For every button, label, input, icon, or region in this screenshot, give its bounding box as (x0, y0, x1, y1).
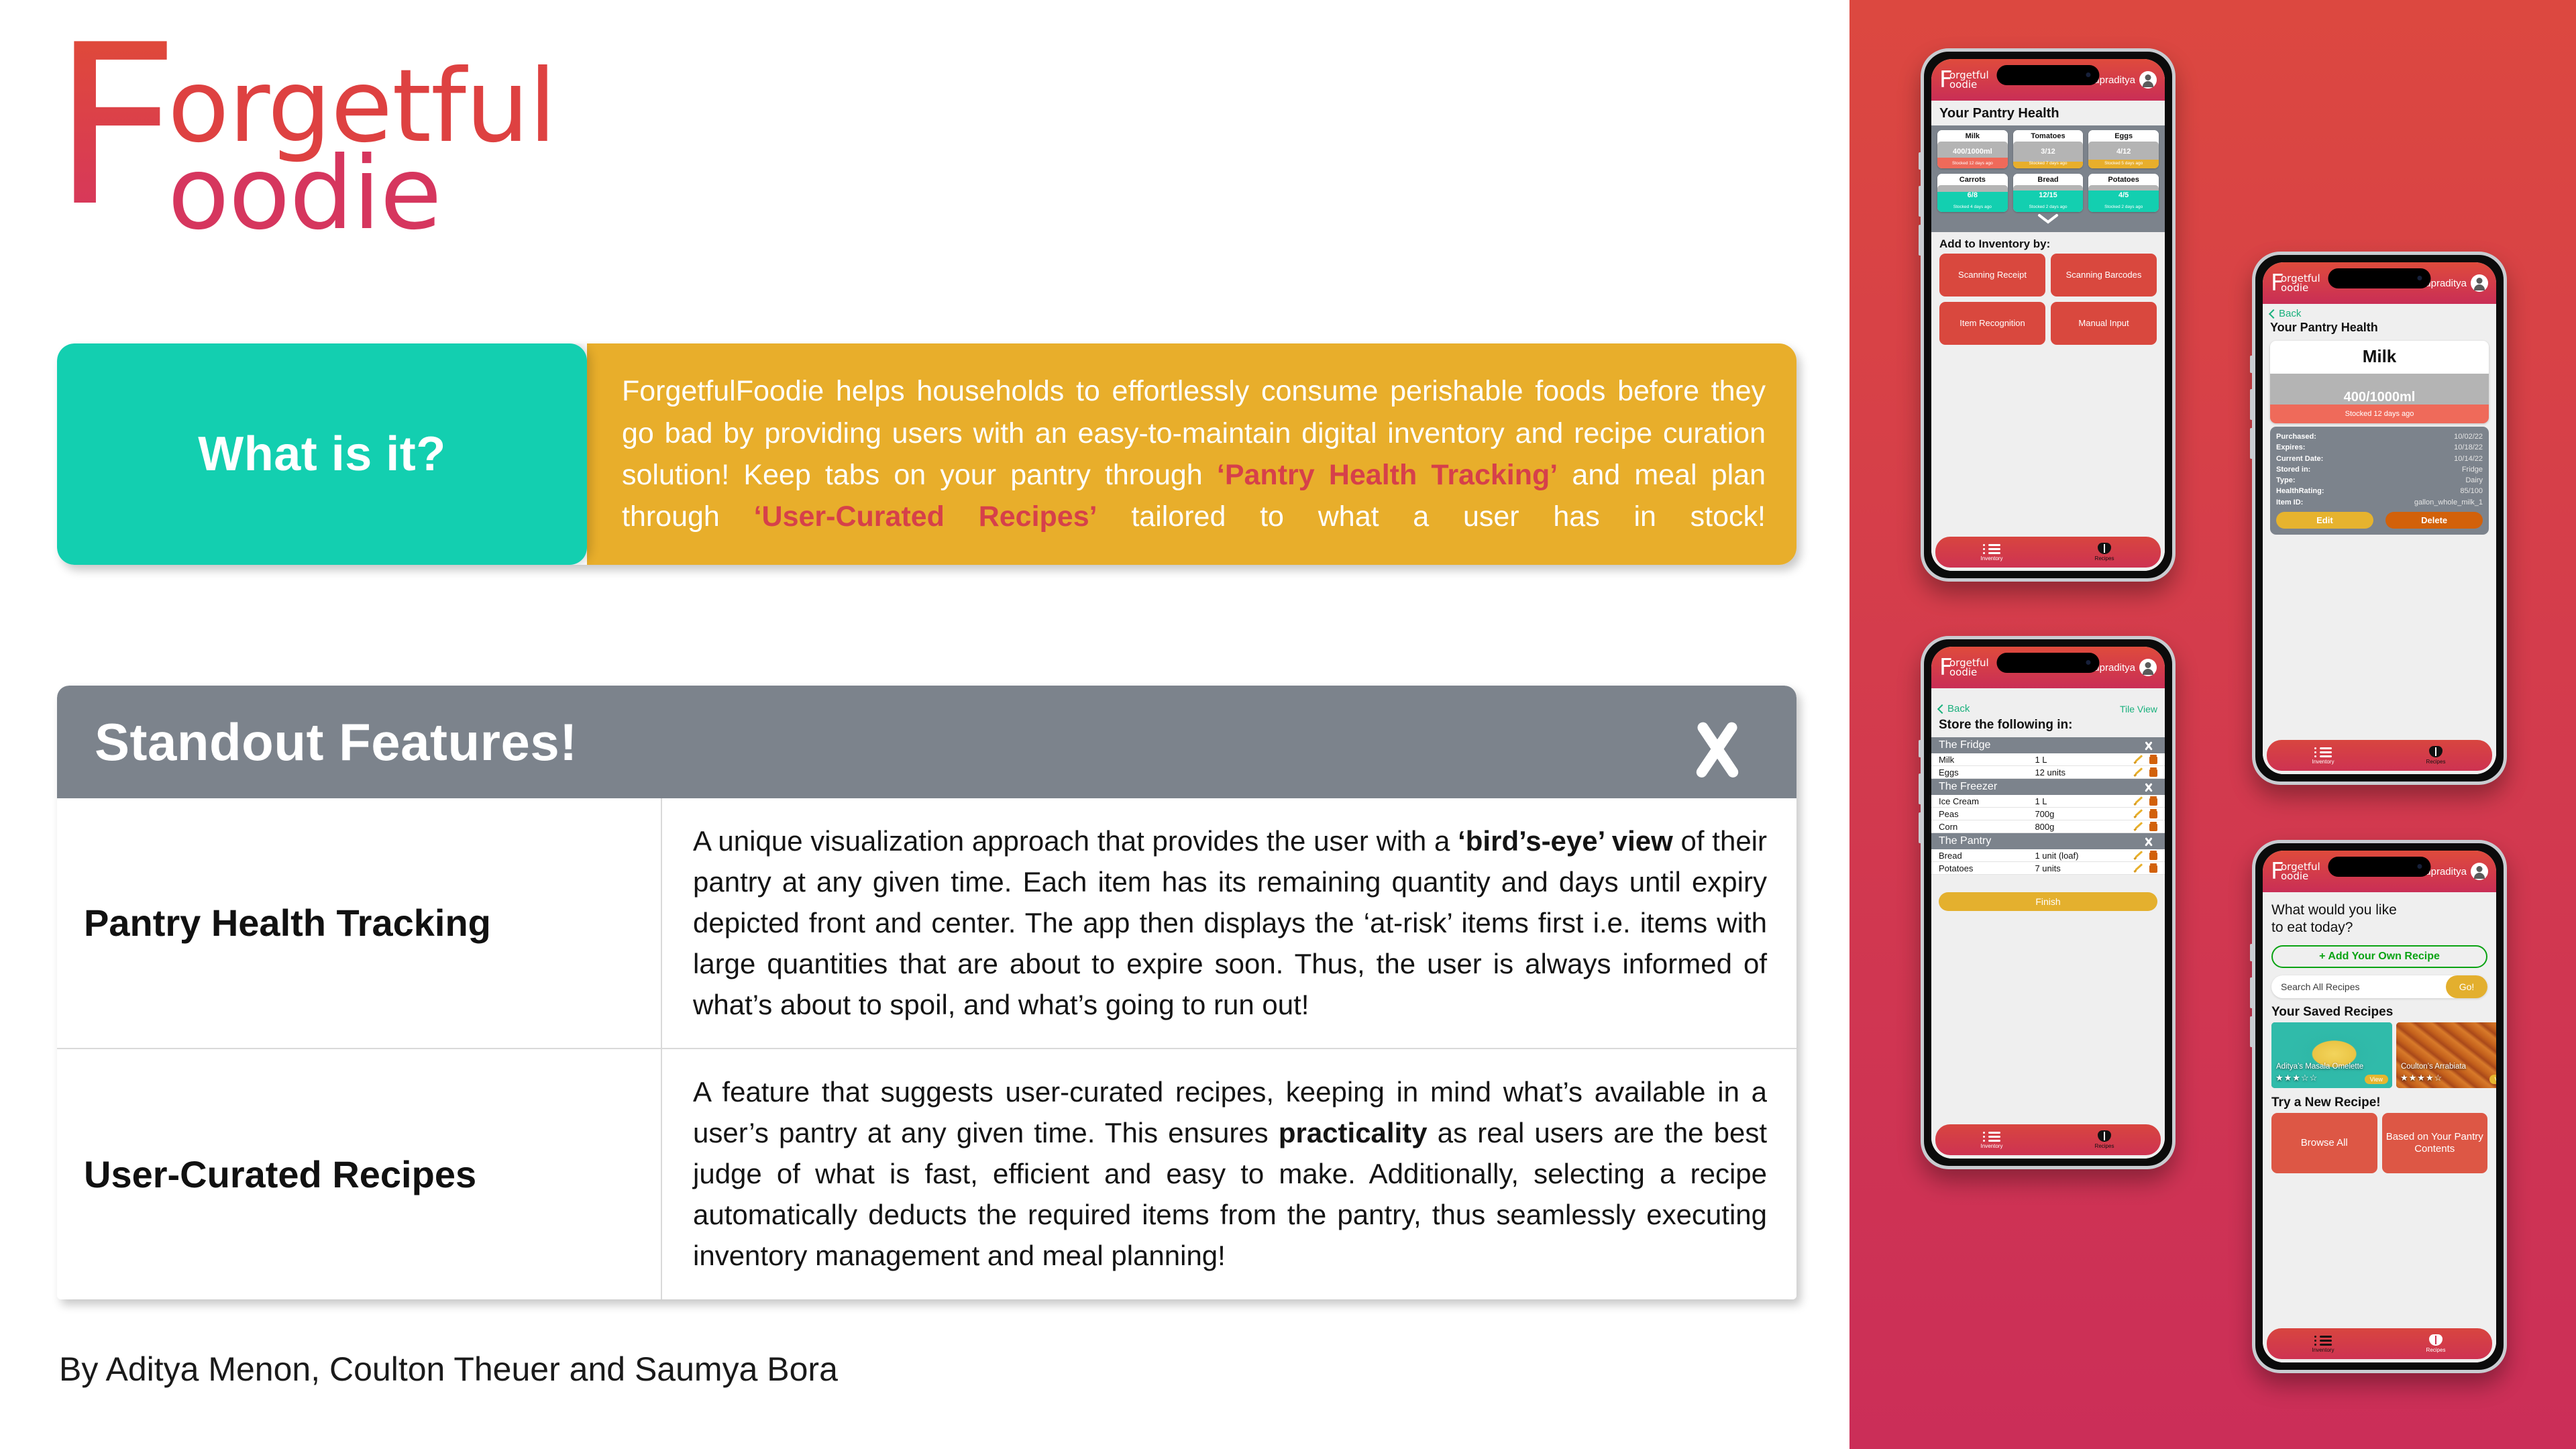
phone2-screen: F orgetful oodie Supraditya Back (2263, 262, 2496, 774)
storage-item-row: Peas 700g (1931, 808, 2165, 820)
tile-meter: 6/8 Stocked 4 days ago (1937, 185, 2008, 212)
meta-key: Purchased: (2276, 431, 2316, 442)
group-name: The Pantry (1939, 835, 1991, 847)
bottom-nav: Inventory Recipes (1935, 1124, 2161, 1155)
phone3-body: Back Tile View Store the following in: T… (1931, 688, 2165, 1159)
edit-icon[interactable] (2134, 810, 2143, 818)
logo-letter-f: F (1939, 68, 1953, 91)
item-recognition-button[interactable]: Item Recognition (1939, 302, 2045, 345)
pantry-tile[interactable]: Potatoes 4/5 Stocked 2 days ago (2088, 174, 2159, 212)
recipe-rating: ★★★☆☆ (2275, 1073, 2318, 1083)
back-button[interactable]: Back (1939, 703, 1970, 714)
feature-title-cell: Pantry Health Tracking (57, 798, 662, 1048)
app-logo: F orgetful oodie (52, 25, 656, 247)
chevron-up-icon[interactable] (2140, 837, 2157, 846)
poster-canvas: F orgetful oodie What is it? ForgetfulFo… (0, 0, 2576, 1449)
phone-mockup-recipes: F orgetful oodie Supraditya What would y… (2252, 840, 2507, 1373)
storage-item-row: Ice Cream 1 L (1931, 795, 2165, 808)
add-method-grid: Scanning Receipt Scanning Barcodes Item … (1931, 254, 2165, 345)
standout-features-title: Standout Features! (95, 712, 578, 773)
edit-button[interactable]: Edit (2276, 512, 2373, 529)
app-logo-small: F orgetful oodie (1939, 658, 1989, 678)
tile-stocked: Stocked 2 days ago (2088, 205, 2159, 209)
item-name: Peas (1939, 809, 2035, 819)
list-icon (2314, 747, 2332, 757)
tile-stocked: Stocked 5 days ago (2088, 161, 2159, 166)
store-title: Store the following in: (1931, 715, 2165, 737)
tile-quantity: 4/5 (2088, 191, 2159, 199)
chevron-left-icon (1937, 704, 1947, 713)
nav-inventory-label: Inventory (2312, 1347, 2334, 1353)
delete-button[interactable]: Delete (2385, 512, 2483, 529)
phone3-screen: F orgetful oodie Supraditya Back (1931, 647, 2165, 1159)
tile-meter: 12/15 Stocked 2 days ago (2013, 185, 2084, 212)
bottom-nav: Inventory Recipes (1935, 537, 2161, 568)
what-is-it-label-text: What is it? (198, 427, 445, 482)
feature-row: Pantry Health Tracking A unique visualiz… (57, 798, 1796, 1049)
tile-stocked: Stocked 7 days ago (2013, 161, 2084, 166)
phone4-body: What would you like to eat today? + Add … (2263, 892, 2496, 1362)
trash-icon[interactable] (2149, 809, 2157, 818)
meta-row: Stored in:Fridge (2276, 464, 2483, 475)
back-label: Back (1947, 703, 1970, 714)
finish-button[interactable]: Finish (1939, 892, 2157, 911)
logo-line-two: oodie (168, 144, 441, 244)
nav-recipes[interactable]: Recipes (2379, 747, 2492, 765)
recipe-name: Aditya’s Masala Omelette (2276, 1063, 2387, 1071)
recipe-view-button[interactable]: View (2365, 1075, 2388, 1084)
dynamic-island (1996, 653, 2099, 673)
meta-value: Fridge (2462, 464, 2483, 475)
nav-recipes[interactable]: Recipes (2048, 1131, 2161, 1149)
pantry-health-title: Your Pantry Health (1931, 101, 2165, 125)
chevron-left-icon (2269, 309, 2278, 318)
storage-item-row: Milk 1 L (1931, 753, 2165, 766)
what-is-it-body: ForgetfulFoodie helps households to effo… (587, 343, 1796, 565)
item-quantity: 1 L (2035, 755, 2134, 765)
item-quantity: 1 L (2035, 796, 2134, 806)
pantry-health-title: Your Pantry Health (2263, 320, 2496, 337)
left-content-panel: F orgetful oodie What is it? ForgetfulFo… (0, 0, 1849, 1449)
list-icon (2314, 1335, 2332, 1346)
trash-icon[interactable] (2149, 863, 2157, 873)
manual-input-button[interactable]: Manual Input (2051, 302, 2157, 345)
tile-quantity: 12/15 (2013, 191, 2084, 199)
app-logo-small: F orgetful oodie (2271, 274, 2320, 293)
dynamic-island (1996, 65, 2099, 85)
item-quantity: 7 units (2035, 863, 2134, 873)
dynamic-island (2328, 857, 2430, 877)
meta-key: Expires: (2276, 442, 2305, 453)
recipes-question-line1: What would you like (2271, 902, 2487, 919)
logo-letter-f: F (2271, 272, 2284, 294)
trash-icon[interactable] (2149, 822, 2157, 831)
item-name: Milk (1939, 755, 2035, 765)
phone4-screen: F orgetful oodie Supraditya What would y… (2263, 851, 2496, 1362)
logo-line-two: oodie (2281, 871, 2320, 881)
item-quantity: 800g (2035, 822, 2134, 832)
recipe-card[interactable]: Coulton’s Arrabiata ★★★★☆ View (2396, 1022, 2496, 1088)
feature-title-cell: User-Curated Recipes (57, 1049, 662, 1299)
nav-inventory[interactable]: Inventory (1935, 1131, 2048, 1149)
whatis-text-3: tailored to what a user has in stock! (1097, 500, 1766, 533)
chevron-up-icon[interactable] (2140, 783, 2157, 792)
feature-desc-bold: practicality (1279, 1117, 1428, 1148)
feature-row: User-Curated Recipes A feature that sugg… (57, 1049, 1796, 1299)
trash-icon[interactable] (2149, 851, 2157, 860)
storage-item-row: Bread 1 unit (loaf) (1931, 849, 2165, 862)
nav-inventory-label: Inventory (2312, 759, 2334, 765)
nav-recipes-label: Recipes (2426, 1347, 2446, 1353)
logo-line-two: oodie (1949, 80, 1989, 90)
feature-description: A feature that suggests user-curated rec… (693, 1072, 1767, 1276)
trash-icon[interactable] (2149, 796, 2157, 806)
meta-value: 10/14/22 (2454, 453, 2483, 464)
meta-key: Current Date: (2276, 453, 2323, 464)
bowl-icon (2429, 747, 2443, 757)
meta-row: Item ID:gallon_whole_milk_1 (2276, 497, 2483, 508)
group-name: The Fridge (1939, 739, 1990, 751)
edit-icon[interactable] (2134, 755, 2143, 764)
edit-icon[interactable] (2134, 851, 2143, 860)
item-meta-panel: Purchased:10/02/22 Expires:10/18/22 Curr… (2270, 427, 2489, 535)
meta-value: 10/18/22 (2454, 442, 2483, 453)
what-is-it-card: What is it? ForgetfulFoodie helps househ… (57, 343, 1796, 565)
feature-description-cell: A feature that suggests user-curated rec… (662, 1049, 1796, 1299)
nav-recipes[interactable]: Recipes (2048, 543, 2161, 561)
storage-group-header[interactable]: The Pantry (1931, 833, 2165, 849)
try-new-recipe-header: Try a New Recipe! (2263, 1088, 2496, 1113)
trash-icon[interactable] (2149, 755, 2157, 764)
edit-icon[interactable] (2134, 822, 2143, 831)
meta-row: Purchased:10/02/22 (2276, 431, 2483, 442)
item-actions: Edit Delete (2276, 512, 2483, 529)
nav-inventory[interactable]: Inventory (2267, 1335, 2379, 1353)
storage-item-row: Eggs 12 units (1931, 766, 2165, 779)
tile-stocked: Stocked 2 days ago (2013, 205, 2084, 209)
item-meter: 400/1000ml Stocked 12 days ago (2270, 374, 2489, 423)
nav-recipes-label: Recipes (2426, 759, 2446, 765)
nav-inventory-label: Inventory (1981, 1143, 2003, 1149)
search-input[interactable]: Search All Recipes (2281, 981, 2360, 992)
add-your-own-recipe-button[interactable]: + Add Your Own Recipe (2271, 945, 2487, 968)
pantry-tile-grid: Milk 400/1000ml Stocked 12 days ago Toma… (1937, 130, 2159, 212)
recipe-card[interactable]: Aditya’s Masala Omelette ★★★☆☆ View (2271, 1022, 2392, 1088)
app-logo-small: F orgetful oodie (1939, 70, 1989, 90)
item-name: Bread (1939, 851, 2035, 861)
pantry-tile[interactable]: Tomatoes 3/12 Stocked 7 days ago (2013, 130, 2084, 168)
nav-inventory[interactable]: Inventory (2267, 747, 2379, 765)
tile-view-button[interactable]: Tile View (2120, 704, 2157, 714)
nav-inventory[interactable]: Inventory (1935, 543, 2048, 561)
storage-group-header[interactable]: The Freezer (1931, 779, 2165, 795)
what-is-it-label: What is it? (57, 343, 587, 565)
logo-letter-f: F (52, 25, 176, 227)
meta-key: HealthRating: (2276, 486, 2324, 496)
meta-row: Type:Dairy (2276, 475, 2483, 486)
tile-quantity: 4/12 (2088, 148, 2159, 156)
recipes-question: What would you like to eat today? (2263, 892, 2496, 936)
tile-meter: 4/5 Stocked 2 days ago (2088, 185, 2159, 212)
chevron-up-icon[interactable] (2140, 741, 2157, 750)
phone1-screen: F orgetful oodie Supraditya Your Pantry … (1931, 59, 2165, 571)
group-name: The Freezer (1939, 781, 1997, 793)
logo-letter-f: F (2271, 860, 2284, 883)
item-quantity: 700g (2035, 809, 2134, 819)
item-detail-card: Milk 400/1000ml Stocked 12 days ago (2270, 341, 2489, 423)
pantry-tile-zone: Milk 400/1000ml Stocked 12 days ago Toma… (1931, 125, 2165, 232)
recipe-rating: ★★★★☆ (2400, 1073, 2443, 1083)
based-on-pantry-button[interactable]: Based on Your Pantry Contents (2382, 1113, 2488, 1173)
nav-recipes[interactable]: Recipes (2379, 1335, 2492, 1353)
app-logo-small: F orgetful oodie (2271, 862, 2320, 881)
scan-receipt-button[interactable]: Scanning Receipt (1939, 254, 2045, 297)
pantry-tile[interactable]: Eggs 4/12 Stocked 5 days ago (2088, 130, 2159, 168)
browse-all-button[interactable]: Browse All (2271, 1113, 2377, 1173)
meta-row: HealthRating:85/100 (2276, 486, 2483, 496)
meta-value: Dairy (2465, 475, 2483, 486)
meta-key: Type: (2276, 475, 2296, 486)
mockup-showcase-panel: F orgetful oodie Supraditya Your Pantry … (1849, 0, 2576, 1449)
edit-icon[interactable] (2134, 768, 2143, 777)
tile-meter: 400/1000ml Stocked 12 days ago (1937, 142, 2008, 168)
feature-desc-bold: ‘bird’s-eye’ view (1458, 825, 1673, 857)
tile-quantity: 400/1000ml (1937, 148, 2008, 156)
feature-description-cell: A unique visualization approach that pro… (662, 798, 1796, 1048)
dynamic-island (2328, 268, 2430, 288)
meta-key: Item ID: (2276, 497, 2303, 508)
nav-recipes-label: Recipes (2095, 555, 2114, 561)
phone-mockup-storage-list: F orgetful oodie Supraditya Back (1921, 636, 2176, 1169)
storage-group-header[interactable]: The Fridge (1931, 737, 2165, 753)
storage-item-row: Potatoes 7 units (1931, 862, 2165, 875)
try-new-recipe-options: Browse All Based on Your Pantry Contents (2263, 1113, 2496, 1173)
item-quantity: 400/1000ml (2270, 390, 2489, 405)
nav-row: Back (2263, 304, 2496, 320)
item-name: Milk (2270, 341, 2489, 374)
standout-features-header[interactable]: Standout Features! (57, 686, 1796, 798)
item-quantity: 1 unit (loaf) (2035, 851, 2134, 861)
nav-inventory-label: Inventory (1981, 555, 2003, 561)
whatis-highlight-2: ‘User-Curated Recipes’ (754, 500, 1097, 533)
chevron-down-icon[interactable] (1937, 212, 2159, 231)
avatar-icon[interactable] (2139, 659, 2157, 676)
meta-value: 85/100 (2460, 486, 2483, 496)
edit-icon[interactable] (2134, 797, 2143, 806)
list-icon (1983, 1131, 2000, 1142)
logo-line-two: oodie (1949, 667, 1989, 678)
storage-item-row: Corn 800g (1931, 820, 2165, 833)
item-quantity: 12 units (2035, 767, 2134, 777)
nav-recipes-label: Recipes (2095, 1143, 2114, 1149)
trash-icon[interactable] (2149, 767, 2157, 777)
meta-value: gallon_whole_milk_1 (2414, 497, 2483, 508)
tile-quantity: 6/8 (1937, 191, 2008, 199)
recipes-question-line2: to eat today? (2271, 919, 2487, 936)
feature-desc-pre: A unique visualization approach that pro… (693, 825, 1458, 857)
meta-value: 10/02/22 (2454, 431, 2483, 442)
bowl-icon (2429, 1335, 2443, 1346)
pantry-tile[interactable]: Milk 400/1000ml Stocked 12 days ago (1937, 130, 2008, 168)
meta-key: Stored in: (2276, 464, 2310, 475)
tile-stocked: Stocked 12 days ago (1937, 161, 2008, 166)
pantry-tile[interactable]: Bread 12/15 Stocked 2 days ago (2013, 174, 2084, 212)
tile-stocked: Stocked 4 days ago (1937, 205, 2008, 209)
meta-row: Current Date:10/14/22 (2276, 453, 2483, 464)
finish-wrap: Finish (1931, 875, 2165, 911)
tile-meter: 4/12 Stocked 5 days ago (2088, 142, 2159, 168)
edit-icon[interactable] (2134, 864, 2143, 873)
bowl-icon (2098, 543, 2111, 554)
author-byline: By Aditya Menon, Coulton Theuer and Saum… (59, 1350, 838, 1389)
avatar-icon[interactable] (2471, 863, 2488, 880)
item-name: Corn (1939, 822, 2035, 832)
scan-barcode-button[interactable]: Scanning Barcodes (2051, 254, 2157, 297)
item-name: Eggs (1939, 767, 2035, 777)
list-icon (1983, 543, 2000, 554)
feature-title: Pantry Health Tracking (84, 902, 491, 944)
search-go-button[interactable]: Go! (2446, 975, 2487, 998)
bowl-icon (2098, 1131, 2111, 1142)
standout-features-table: Standout Features! Pantry Health Trackin… (57, 686, 1796, 1299)
bottom-nav: Inventory Recipes (2267, 740, 2492, 771)
pantry-tile[interactable]: Carrots 6/8 Stocked 4 days ago (1937, 174, 2008, 212)
item-stocked: Stocked 12 days ago (2270, 410, 2489, 418)
tile-quantity: 3/12 (2013, 148, 2084, 156)
phone-mockup-pantry-health: F orgetful oodie Supraditya Your Pantry … (1921, 48, 2176, 582)
item-name: Potatoes (1939, 863, 2035, 873)
logo-line-two: oodie (2281, 283, 2320, 293)
meta-row: Expires:10/18/22 (2276, 442, 2483, 453)
back-label: Back (2279, 308, 2301, 319)
recipe-search-bar[interactable]: Search All Recipes Go! (2271, 975, 2487, 998)
phone1-body: Your Pantry Health Milk 400/1000ml Stock… (1931, 101, 2165, 571)
saved-recipes-list: Aditya’s Masala Omelette ★★★☆☆ View Coul… (2263, 1022, 2496, 1088)
recipe-name: Coulton’s Arrabiata (2401, 1063, 2496, 1071)
bottom-nav: Inventory Recipes (2267, 1328, 2492, 1359)
logo-letter-f: F (1939, 656, 1953, 679)
nav-row: Back Tile View (1931, 688, 2165, 715)
add-to-inventory-label: Add to Inventory by: (1931, 232, 2165, 254)
feature-description: A unique visualization approach that pro… (693, 821, 1767, 1025)
back-button[interactable]: Back (2270, 308, 2301, 319)
phone2-body: Back Your Pantry Health Milk 400/1000ml … (2263, 304, 2496, 774)
phone-mockup-item-detail: F orgetful oodie Supraditya Back (2252, 252, 2507, 785)
saved-recipes-header: Your Saved Recipes (2263, 998, 2496, 1022)
what-is-it-paragraph: ForgetfulFoodie helps households to effo… (622, 370, 1766, 537)
item-name: Ice Cream (1939, 796, 2035, 806)
tile-meter: 3/12 Stocked 7 days ago (2013, 142, 2084, 168)
avatar-icon[interactable] (2139, 71, 2157, 89)
chevron-up-icon[interactable] (1665, 715, 1759, 769)
avatar-icon[interactable] (2471, 274, 2488, 292)
feature-title: User-Curated Recipes (84, 1154, 476, 1195)
whatis-highlight-1: ‘Pantry Health Tracking’ (1217, 459, 1558, 491)
